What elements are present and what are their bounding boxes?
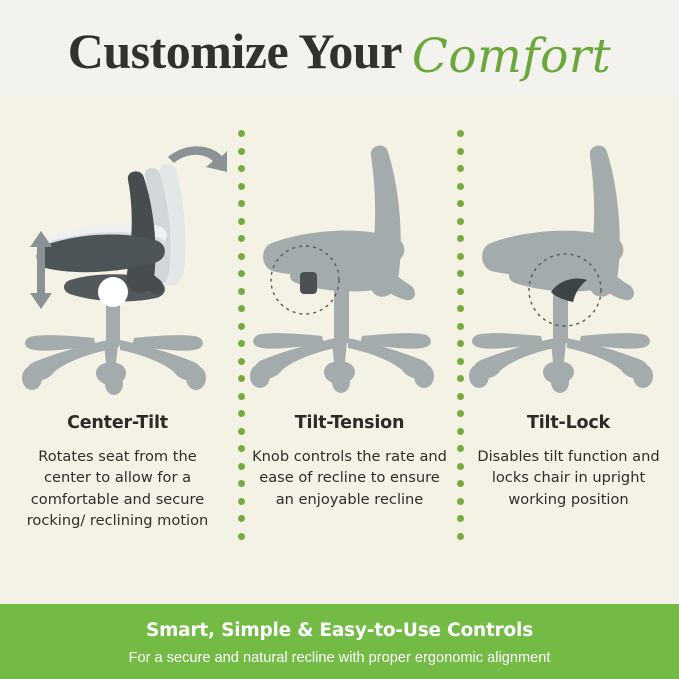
feature-description: Disables tilt function and locks chair i… — [459, 446, 678, 510]
feature-description: Knob controls the rate and ease of recli… — [240, 446, 459, 510]
feature-description: Rotates seat from the center to allow fo… — [8, 446, 227, 532]
feature-title: Tilt-Tension — [240, 413, 459, 433]
feature-column-center-tilt: Center-Tilt Rotates seat from the center… — [8, 130, 227, 532]
office-chair-tilt-lock-icon — [459, 130, 678, 405]
footer-title: Smart, Simple & Easy-to-Use Controls — [0, 604, 679, 641]
feature-column-tilt-tension: Tilt-Tension Knob controls the rate and … — [240, 130, 459, 510]
curved-recline-arrow — [168, 146, 227, 172]
page-title: Customize YourComfort — [0, 22, 679, 80]
office-chair-center-tilt-icon — [8, 130, 227, 405]
divider-dot — [238, 515, 245, 522]
feature-title: Center-Tilt — [8, 413, 227, 433]
feature-title: Tilt-Lock — [459, 413, 678, 433]
feature-column-tilt-lock: Tilt-Lock Disables tilt function and loc… — [459, 130, 678, 510]
footer-banner: Smart, Simple & Easy-to-Use Controls For… — [0, 604, 679, 679]
footer-subtitle: For a secure and natural recline with pr… — [0, 650, 679, 666]
divider-dot — [457, 515, 464, 522]
infographic-page: Customize YourComfort — [0, 0, 679, 679]
page-title-main: Customize Your — [68, 23, 402, 79]
divider-dot — [457, 533, 464, 540]
tension-knob — [300, 272, 317, 294]
divider-dot — [238, 533, 245, 540]
office-chair-tilt-tension-icon — [240, 130, 459, 405]
page-title-script: Comfort — [412, 29, 611, 84]
up-down-arrow — [30, 231, 52, 309]
